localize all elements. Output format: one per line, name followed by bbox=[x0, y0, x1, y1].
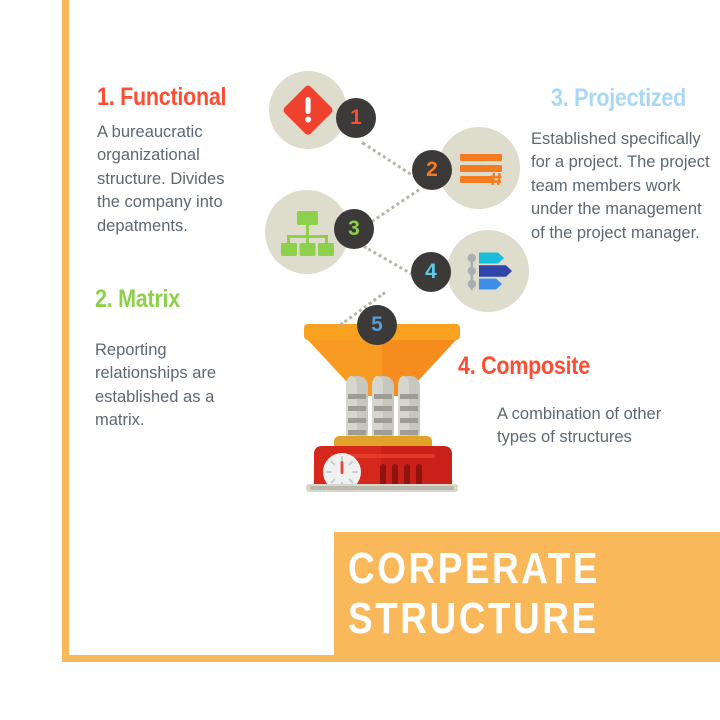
connector-2-3 bbox=[365, 184, 426, 227]
section-body-matrix: Reporting relationships are established … bbox=[95, 339, 260, 433]
section-body-composite: A combination of other types of structur… bbox=[497, 403, 697, 450]
title-line-1: CORPERATE bbox=[348, 544, 600, 594]
step-badge-5: 5 bbox=[357, 305, 397, 345]
left-accent-rule bbox=[62, 0, 69, 662]
step-badge-2: 2 bbox=[412, 150, 452, 190]
alert-diamond-icon bbox=[269, 71, 347, 149]
section-heading-projectized: 3. Projectized bbox=[551, 85, 686, 113]
composite-blender-illustration bbox=[296, 318, 468, 498]
gantt-bars-icon bbox=[447, 230, 529, 312]
infographic-canvas: 1. Functional A bureaucratic organizatio… bbox=[0, 0, 720, 720]
section-body-functional: A bureaucratic organizational structure.… bbox=[97, 121, 247, 238]
step-badge-4: 4 bbox=[411, 252, 451, 292]
section-heading-matrix: 2. Matrix bbox=[95, 286, 180, 314]
icon-disc-functional bbox=[269, 71, 347, 149]
title-line-2: STRUCTURE bbox=[348, 594, 599, 644]
section-body-projectized: Established specifically for a project. … bbox=[531, 128, 717, 245]
bottom-accent-rule bbox=[62, 655, 720, 662]
section-heading-composite: 4. Composite bbox=[458, 353, 590, 381]
icon-disc-composite bbox=[447, 230, 529, 312]
step-badge-3: 3 bbox=[334, 209, 374, 249]
section-heading-functional: 1. Functional bbox=[97, 84, 226, 112]
title-banner: CORPERATE STRUCTURE bbox=[334, 532, 720, 655]
step-badge-1: 1 bbox=[336, 98, 376, 138]
